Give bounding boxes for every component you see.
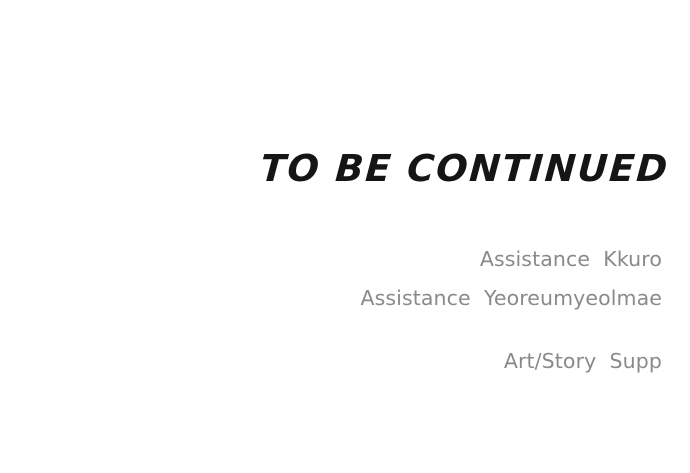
credit-line-assistance-kkuro: Assistance Kkuro	[0, 240, 662, 279]
to-be-continued-line: TO BE CONTINUED	[0, 148, 668, 190]
credits-spacer	[0, 318, 662, 342]
credit-line-art-story-supp: Art/Story Supp	[0, 342, 662, 381]
to-be-continued-text: TO BE CONTINUED	[259, 148, 670, 190]
credits-block: Assistance Kkuro Assistance Yeoreumyeolm…	[0, 240, 662, 381]
credit-line-assistance-yeoreumyeolmae: Assistance Yeoreumyeolmae	[0, 279, 662, 318]
comic-end-panel: TO BE CONTINUED Assistance Kkuro Assista…	[0, 0, 690, 473]
